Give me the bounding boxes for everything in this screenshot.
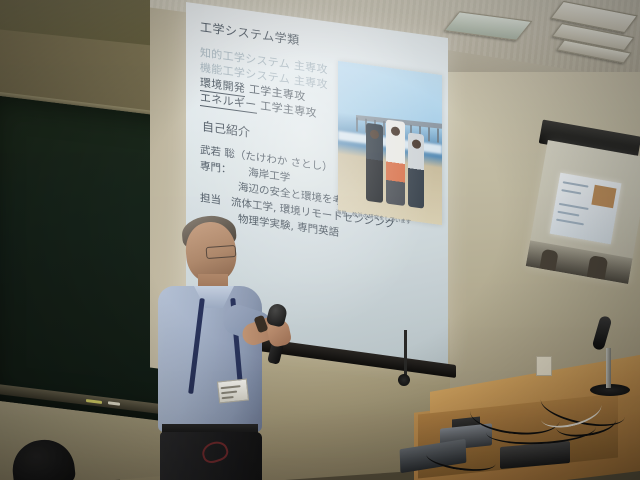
eyeglasses <box>206 245 237 259</box>
specialty-label: 専門： <box>200 160 232 176</box>
presenter <box>150 212 310 480</box>
secondary-screen-content <box>550 173 622 245</box>
id-badge <box>217 378 249 403</box>
lecture-room-photo: 工学システム学類 知的工学システム 主専攻 機能工学システム 主専攻 環境開発 … <box>0 0 640 480</box>
course-label: 担当 <box>200 192 221 207</box>
beach-person-head <box>391 126 400 136</box>
beach-person-head <box>370 129 379 139</box>
beach-person-head <box>412 139 421 149</box>
beach-photo <box>338 61 442 225</box>
desk-microphone-stem <box>606 348 611 388</box>
screen-support-post <box>404 330 407 378</box>
wall-socket <box>536 356 552 376</box>
screen-pulldown-handle[interactable] <box>398 374 410 386</box>
